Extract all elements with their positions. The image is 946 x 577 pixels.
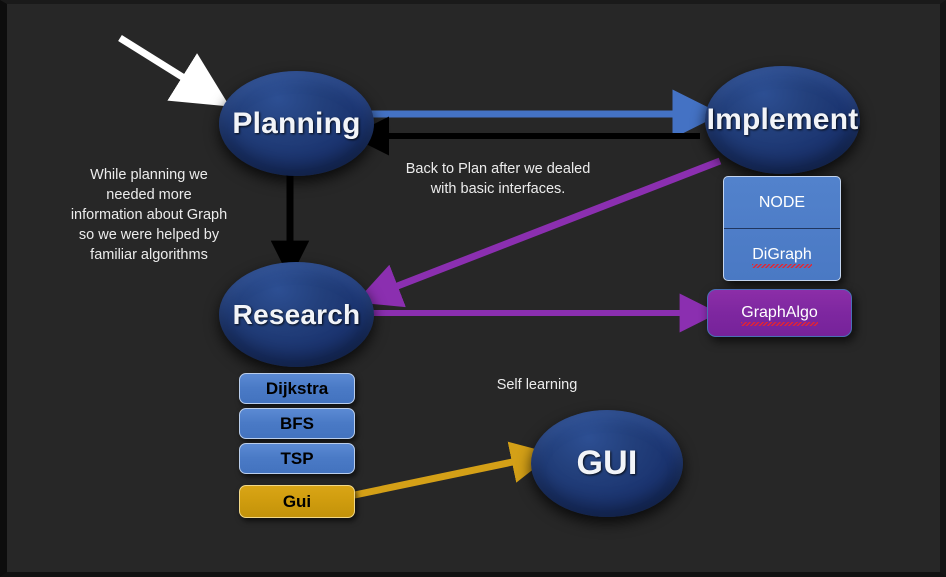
impl-cell-digraph-label: DiGraph xyxy=(752,246,812,264)
node-research-label: Research xyxy=(233,299,361,331)
caption-self-learning-text: Self learning xyxy=(477,375,597,395)
node-implement-label: Implement xyxy=(707,103,859,137)
algo-box-tsp-label: TSP xyxy=(280,449,313,469)
node-implement[interactable]: Implement xyxy=(705,66,860,174)
caption-left-note-line-1: While planning we xyxy=(49,165,249,185)
impl-cell-digraph[interactable]: DiGraph xyxy=(724,229,840,280)
implement-class-stack: NODE DiGraph xyxy=(723,176,841,281)
pointer-arrow xyxy=(120,38,200,88)
algo-box-gui[interactable]: Gui xyxy=(239,485,355,518)
gui-to-gui-node-arrow xyxy=(345,459,527,497)
impl-cell-node[interactable]: NODE xyxy=(724,177,840,229)
caption-left-note-line-3: information about Graph xyxy=(49,205,249,225)
diagram-canvas: Planning Implement Research GUI NODE DiG… xyxy=(0,0,946,577)
impl-cell-node-label: NODE xyxy=(759,194,805,212)
algo-box-dijkstra-label: Dijkstra xyxy=(266,379,328,399)
caption-self-learning: Self learning xyxy=(477,375,597,395)
graphalgo-box[interactable]: GraphAlgo xyxy=(707,289,852,337)
algo-box-bfs-label: BFS xyxy=(280,414,314,434)
node-gui-label: GUI xyxy=(576,444,637,483)
algo-box-tsp[interactable]: TSP xyxy=(239,443,355,474)
caption-back-to-plan-line-2: with basic interfaces. xyxy=(385,179,611,199)
graphalgo-box-label: GraphAlgo xyxy=(741,304,818,322)
caption-back-to-plan-line-1: Back to Plan after we dealed xyxy=(385,159,611,179)
caption-left-note-line-5: familiar algorithms xyxy=(49,245,249,265)
node-gui[interactable]: GUI xyxy=(531,410,683,517)
caption-left-note-line-4: so we were helped by xyxy=(49,225,249,245)
algo-box-gui-label: Gui xyxy=(283,492,311,512)
node-research[interactable]: Research xyxy=(219,262,374,367)
node-planning-label: Planning xyxy=(232,107,360,141)
caption-left-note: While planning we needed more informatio… xyxy=(49,165,249,265)
caption-back-to-plan: Back to Plan after we dealed with basic … xyxy=(385,159,611,199)
caption-left-note-line-2: needed more xyxy=(49,185,249,205)
algo-box-bfs[interactable]: BFS xyxy=(239,408,355,439)
node-planning[interactable]: Planning xyxy=(219,71,374,176)
algo-box-dijkstra[interactable]: Dijkstra xyxy=(239,373,355,404)
